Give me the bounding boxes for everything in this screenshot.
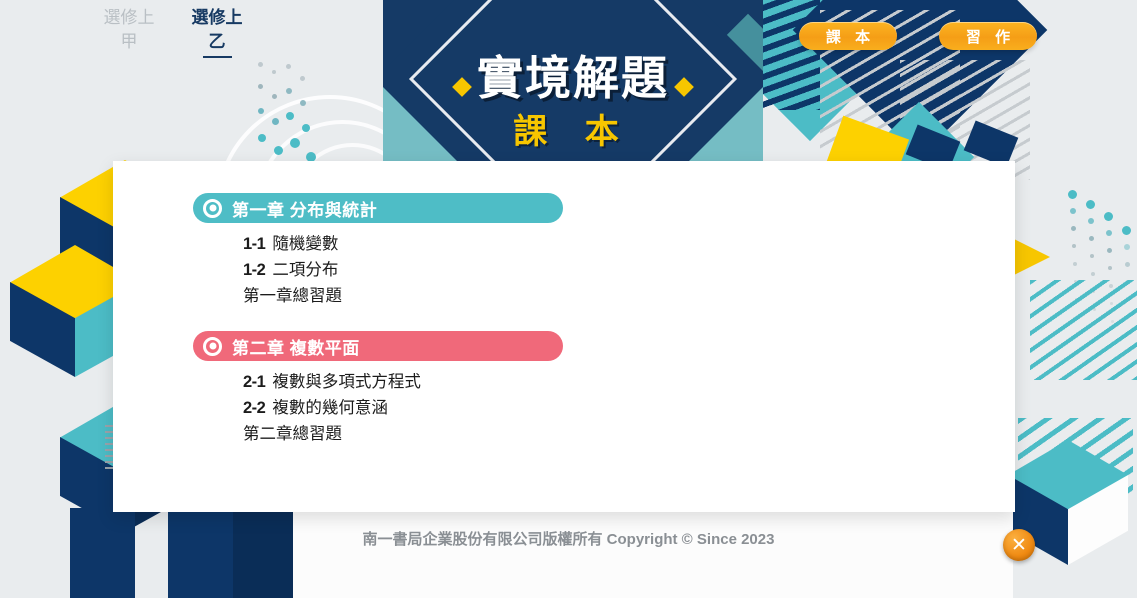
section-number: 1-1 bbox=[243, 235, 265, 253]
tab-yi-line1: 選修上 bbox=[183, 6, 251, 30]
tab-xuanxiu-shang-yi[interactable]: 選修上 乙 bbox=[183, 6, 251, 58]
section-number: 2-2 bbox=[243, 399, 265, 417]
bg-white-band bbox=[293, 508, 1013, 598]
tab-xuanxiu-shang-jia[interactable]: 選修上 甲 bbox=[95, 6, 163, 58]
section-label: 複數的幾何意涵 bbox=[272, 399, 388, 417]
section-label: 第二章總習題 bbox=[243, 425, 342, 443]
list-item[interactable]: 2-1複數與多項式方程式 bbox=[243, 369, 1015, 395]
chapter-2-header[interactable]: 第二章 複數平面 bbox=[193, 331, 563, 361]
chapter-1-header[interactable]: 第一章 分布與統計 bbox=[193, 193, 563, 223]
list-item[interactable]: 1-2二項分布 bbox=[243, 257, 1015, 283]
tab-jia-line2: 甲 bbox=[95, 30, 163, 54]
textbook-button[interactable]: 課 本 bbox=[799, 22, 897, 50]
target-icon bbox=[203, 337, 222, 356]
section-label: 複數與多項式方程式 bbox=[272, 373, 421, 391]
workbook-button[interactable]: 習 作 bbox=[939, 22, 1037, 50]
list-item[interactable]: 第二章總習題 bbox=[243, 421, 1015, 447]
banner-title: 實境解題 bbox=[383, 42, 763, 108]
section-label: 隨機變數 bbox=[272, 235, 338, 253]
chapter-2-sections: 2-1複數與多項式方程式 2-2複數的幾何意涵 第二章總習題 bbox=[243, 369, 1015, 447]
tab-jia-line1: 選修上 bbox=[95, 6, 163, 30]
chapter-1-sections: 1-1隨機變數 1-2二項分布 第一章總習題 bbox=[243, 231, 1015, 309]
section-number: 1-2 bbox=[243, 261, 265, 279]
chapter-1-title: 第一章 分布與統計 bbox=[232, 196, 377, 221]
book-volume-tabs: 選修上 甲 選修上 乙 bbox=[95, 6, 251, 58]
chapter-2: 第二章 複數平面 2-1複數與多項式方程式 2-2複數的幾何意涵 第二章總習題 bbox=[193, 331, 1015, 447]
banner-subtitle: 課 本 bbox=[383, 104, 763, 153]
target-icon bbox=[203, 199, 222, 218]
section-number: 2-1 bbox=[243, 373, 265, 391]
hero-banner: 實境解題 課 本 bbox=[383, 0, 763, 164]
section-label: 二項分布 bbox=[272, 261, 338, 279]
chapter-2-title: 第二章 複數平面 bbox=[232, 334, 360, 359]
list-item[interactable]: 2-2複數的幾何意涵 bbox=[243, 395, 1015, 421]
bg-block-bottom-3 bbox=[233, 508, 293, 598]
copyright-footer: 南一書局企業股份有限公司版權所有 Copyright © Since 2023 bbox=[0, 528, 1137, 549]
bg-block-bottom-2 bbox=[168, 508, 233, 598]
resource-type-buttons: 課 本 習 作 bbox=[799, 22, 1037, 50]
table-of-contents-card: 第一章 分布與統計 1-1隨機變數 1-2二項分布 第一章總習題 第二章 複數平… bbox=[113, 161, 1015, 512]
list-item[interactable]: 第一章總習題 bbox=[243, 283, 1015, 309]
bg-block-bottom-1 bbox=[70, 508, 135, 598]
chapter-1: 第一章 分布與統計 1-1隨機變數 1-2二項分布 第一章總習題 bbox=[193, 193, 1015, 309]
bg-stripes-teal-right bbox=[1030, 280, 1137, 380]
tab-yi-line2: 乙 bbox=[203, 30, 232, 58]
list-item[interactable]: 1-1隨機變數 bbox=[243, 231, 1015, 257]
close-icon[interactable]: ✕ bbox=[1003, 529, 1035, 561]
bg-yellow-arrow-right bbox=[1012, 238, 1050, 276]
section-label: 第一章總習題 bbox=[243, 287, 342, 305]
